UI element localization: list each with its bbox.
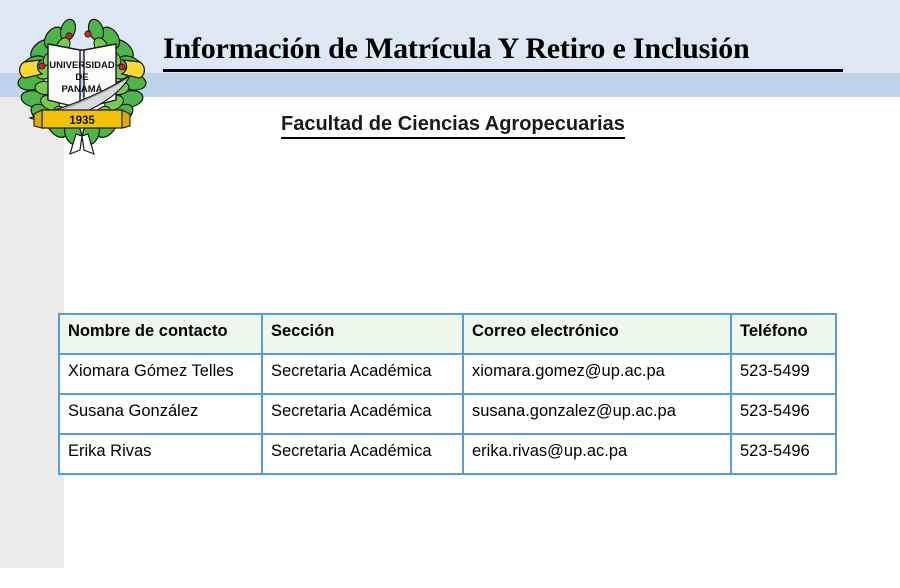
column-header-telefono: Teléfono xyxy=(731,314,836,354)
left-gray-strip xyxy=(0,97,64,568)
crest-year-text: 1935 xyxy=(69,115,95,127)
column-header-seccion: Sección xyxy=(262,314,463,354)
column-header-nombre: Nombre de contacto xyxy=(59,314,262,354)
contact-table: Nombre de contacto Sección Correo electr… xyxy=(58,313,837,475)
cell-correo: susana.gonzalez@up.ac.pa xyxy=(463,394,731,434)
cell-telefono: 523-5496 xyxy=(731,394,836,434)
table-row: Erika Rivas Secretaria Académica erika.r… xyxy=(59,434,836,474)
cell-nombre: Susana González xyxy=(59,394,262,434)
slide-canvas: UNIVERSIDAD DE PANAMÁ 1935 In xyxy=(0,0,900,588)
page-title: Información de Matrícula Y Retiro e Incl… xyxy=(163,32,843,72)
column-header-correo: Correo electrónico xyxy=(463,314,731,354)
cell-seccion: Secretaria Académica xyxy=(262,394,463,434)
cell-seccion: Secretaria Académica xyxy=(262,434,463,474)
university-crest-logo: UNIVERSIDAD DE PANAMÁ 1935 xyxy=(12,10,152,158)
crest-book-line2: DE xyxy=(75,72,88,83)
cell-nombre: Xiomara Gómez Telles xyxy=(59,354,262,394)
table-row: Xiomara Gómez Telles Secretaria Académic… xyxy=(59,354,836,394)
cell-correo: erika.rivas@up.ac.pa xyxy=(463,434,731,474)
faculty-subtitle: Facultad de Ciencias Agropecuarias xyxy=(281,113,625,139)
cell-telefono: 523-5496 xyxy=(731,434,836,474)
crest-book-line1: UNIVERSIDAD xyxy=(49,60,115,71)
cell-telefono: 523-5499 xyxy=(731,354,836,394)
cell-correo: xiomara.gomez@up.ac.pa xyxy=(463,354,731,394)
year-banner: 1935 xyxy=(34,110,130,128)
cell-seccion: Secretaria Académica xyxy=(262,354,463,394)
cell-nombre: Erika Rivas xyxy=(59,434,262,474)
table-row: Susana González Secretaria Académica sus… xyxy=(59,394,836,434)
table-header-row: Nombre de contacto Sección Correo electr… xyxy=(59,314,836,354)
